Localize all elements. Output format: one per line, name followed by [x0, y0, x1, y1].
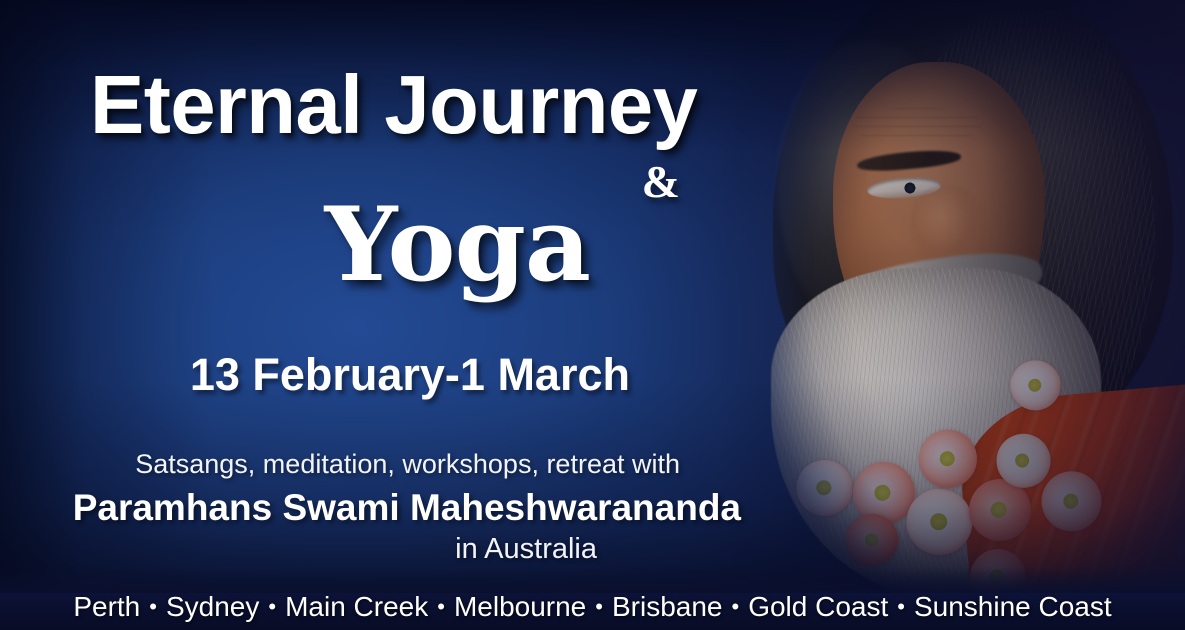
city-name: Main Creek	[285, 591, 428, 622]
event-dates: 13 February-1 March	[0, 349, 630, 401]
presenter-name: Paramhans Swami Maheshwarananda	[0, 487, 741, 529]
banner-subject-title: Yoga	[0, 185, 590, 305]
city-name: Perth	[73, 591, 140, 622]
city-name: Sunshine Coast	[914, 591, 1112, 622]
text-content-layer: Eternal Journey & Yoga 13 February-1 Mar…	[0, 0, 1185, 630]
promotional-banner: Eternal Journey & Yoga 13 February-1 Mar…	[0, 0, 1185, 630]
city-name: Gold Coast	[748, 591, 888, 622]
city-separator-bullet: •	[722, 594, 748, 620]
city-name: Brisbane	[612, 591, 723, 622]
city-separator-bullet: •	[140, 594, 166, 620]
city-separator-bullet: •	[586, 594, 612, 620]
banner-headline: Eternal Journey	[90, 57, 697, 153]
city-separator-bullet: •	[428, 594, 454, 620]
city-separator-bullet: •	[888, 594, 914, 620]
city-separator-bullet: •	[259, 594, 285, 620]
city-list: Perth•Sydney•Main Creek•Melbourne•Brisba…	[0, 591, 1185, 623]
city-name: Melbourne	[454, 591, 586, 622]
event-country: in Australia	[0, 533, 597, 566]
event-description: Satsangs, meditation, workshops, retreat…	[0, 449, 680, 480]
city-name: Sydney	[166, 591, 259, 622]
